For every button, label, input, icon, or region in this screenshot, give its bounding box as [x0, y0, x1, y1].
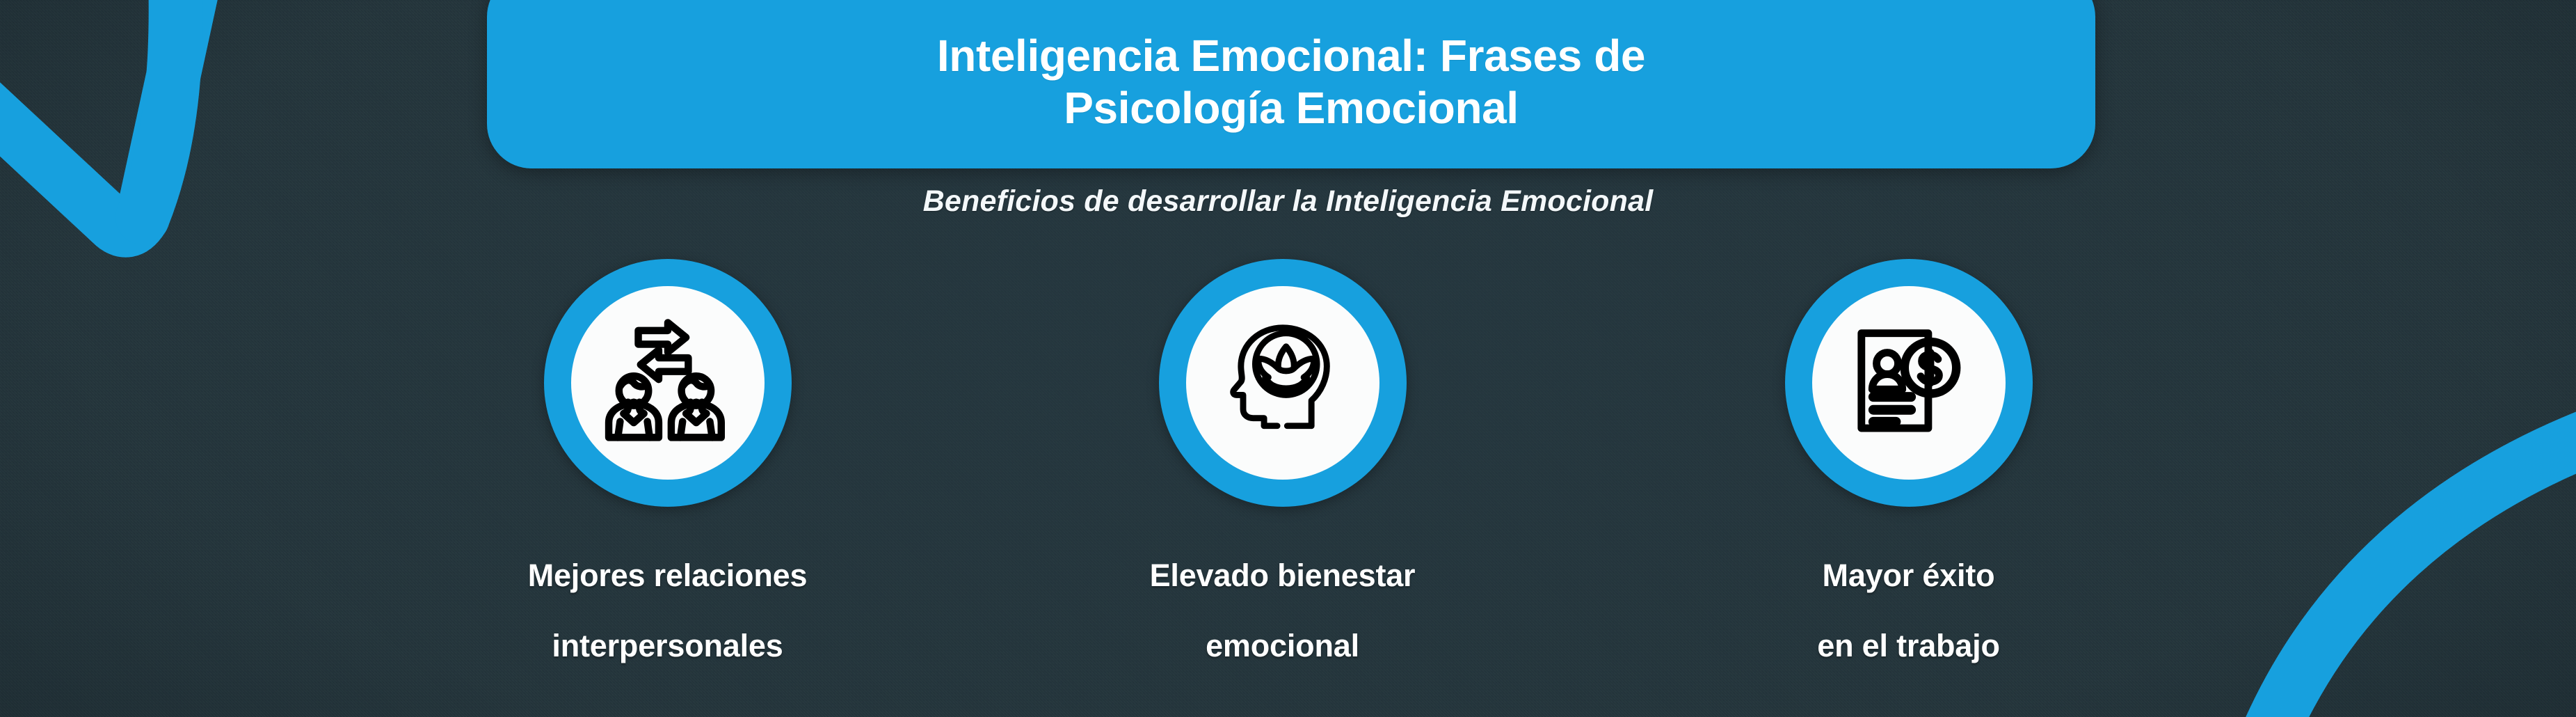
benefit-icon-badge — [1159, 259, 1407, 507]
resume-dollar-icon — [1844, 318, 1974, 448]
benefit-icon-badge — [1785, 259, 2033, 507]
benefit-item-relationships: Mejores relaciones interpersonales — [487, 259, 849, 699]
benefit-item-wellbeing: Elevado bienestar emocional — [1102, 259, 1464, 699]
page-subtitle: Beneficios de desarrollar la Inteligenci… — [0, 184, 2576, 219]
benefit-label-line-2: en el trabajo — [1817, 629, 1999, 663]
benefit-icon-circle — [1186, 286, 1379, 480]
benefit-icon-circle — [571, 286, 765, 480]
benefit-label-line-2: emocional — [1150, 629, 1416, 663]
benefit-label-line-2: interpersonales — [528, 629, 808, 663]
benefit-label-line-1: Mejores relaciones — [528, 558, 808, 593]
infographic-canvas: Inteligencia Emocional: Frases de Psicol… — [0, 0, 2576, 717]
benefit-label: Mejores relaciones interpersonales — [528, 523, 808, 699]
title-banner: Inteligencia Emocional: Frases de Psicol… — [487, 0, 2095, 168]
benefit-label: Mayor éxito en el trabajo — [1817, 523, 1999, 699]
benefit-icon-badge — [544, 259, 792, 507]
benefit-label: Elevado bienestar emocional — [1150, 523, 1416, 699]
benefit-item-career-success: Mayor éxito en el trabajo — [1728, 259, 2090, 699]
page-title: Inteligencia Emocional: Frases de Psicol… — [937, 6, 1645, 134]
page-title-line-2: Psicología Emocional — [937, 82, 1645, 134]
two-people-exchange-icon — [600, 315, 736, 451]
head-lotus-mindfulness-icon — [1217, 317, 1349, 449]
benefit-label-line-1: Mayor éxito — [1817, 558, 1999, 593]
benefit-icon-circle — [1812, 286, 2006, 480]
page-title-line-1: Inteligencia Emocional: Frases de — [937, 30, 1645, 82]
benefits-row: Mejores relaciones interpersonales — [0, 259, 2576, 699]
benefit-label-line-1: Elevado bienestar — [1150, 558, 1416, 593]
